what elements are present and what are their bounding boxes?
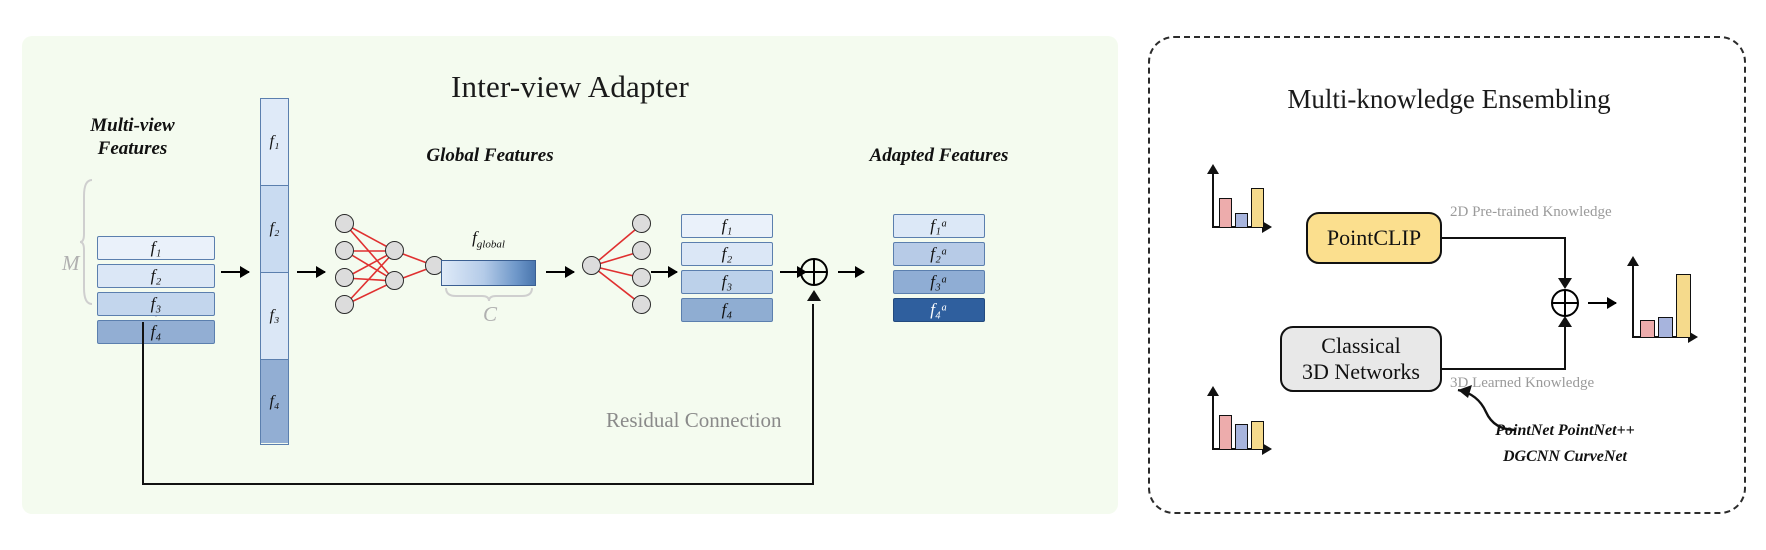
connector-3d-arrowhead-icon <box>1558 316 1572 327</box>
sum-operator-icon <box>800 258 828 286</box>
connector-2d-vertical <box>1564 237 1566 281</box>
global-feature-label: fglobal <box>441 228 536 250</box>
inter-view-adapter-panel: Inter-view Adapter Multi-view Features M… <box>22 36 1118 514</box>
dimension-label-c-global: C <box>483 302 497 327</box>
mlp-node <box>385 271 404 290</box>
arrow-right-icon <box>1588 302 1616 304</box>
ensemble-sum-operator-icon <box>1551 289 1579 317</box>
adapted-feature-box: f₁ᵃ <box>893 214 985 238</box>
global-feature-bar <box>441 260 536 286</box>
chart-bar <box>1235 213 1248 228</box>
brace-m-icon <box>80 178 94 306</box>
arrow-right-icon <box>838 271 864 273</box>
residual-arrowhead-icon <box>807 290 821 301</box>
feature-box: f₃ <box>681 270 773 294</box>
concat-segment: f₂ <box>261 186 288 273</box>
network-names-line-2: DGCNN CurveNet <box>1450 444 1680 470</box>
chart-bar <box>1219 198 1232 228</box>
concatenated-feature-column: f₁ f₂ f₃ f₄ <box>260 98 289 445</box>
feature-box: f₁ <box>681 214 773 238</box>
chart-bar <box>1235 424 1248 450</box>
concat-segment: f₃ <box>261 273 288 360</box>
adapted-features-caption: Adapted Features <box>806 144 1072 167</box>
pointclip-box[interactable]: PointCLIP <box>1306 212 1442 264</box>
mlp-node <box>582 256 601 275</box>
label-2d-knowledge: 2D Pre-trained Knowledge <box>1450 204 1612 221</box>
global-features-caption: Global Features <box>390 144 590 167</box>
adapted-feature-stack: f₁ᵃ f₂ᵃ f₃ᵃ f₄ᵃ <box>893 214 985 326</box>
mlp-node <box>335 295 354 314</box>
chart-y-axis-arrow-icon <box>1207 386 1219 396</box>
chart-y-axis-arrow-icon <box>1627 256 1639 266</box>
connector-2d-arrowhead-icon <box>1558 278 1572 289</box>
adapted-feature-box: f₃ᵃ <box>893 270 985 294</box>
right-panel-title: Multi-knowledge Ensembling <box>1150 84 1748 115</box>
mlp-node <box>632 214 651 233</box>
chart-bar <box>1658 317 1673 338</box>
dimension-label-m: M <box>62 251 80 276</box>
page-title: Inter-view Adapter <box>22 69 1118 105</box>
concat-segment: f₄ <box>261 360 288 443</box>
chart-classical-input <box>1206 392 1274 454</box>
connector-3d-horizontal <box>1442 368 1566 370</box>
mlp-node <box>632 295 651 314</box>
network-names-line-1: PointNet PointNet++ <box>1450 418 1680 444</box>
multiview-features-caption: Multi-view Features <box>50 114 215 160</box>
chart-bar <box>1251 421 1264 450</box>
chart-bar <box>1219 415 1232 450</box>
multiview-feature-stack: f₁ f₂ f₃ f₄ <box>97 236 215 348</box>
feature-box: f₄ <box>681 298 773 322</box>
connector-2d-horizontal <box>1442 237 1566 239</box>
mlp-node <box>385 241 404 260</box>
classical-3d-networks-box[interactable]: Classical 3D Networks <box>1280 326 1442 392</box>
mlp-node <box>335 268 354 287</box>
concat-segment: f₁ <box>261 99 288 186</box>
arrow-right-icon <box>221 271 249 273</box>
chart-y-axis <box>1632 266 1634 338</box>
chart-bar <box>1676 274 1691 338</box>
arrow-right-icon <box>297 271 325 273</box>
chart-ensembled-logits <box>1626 260 1702 344</box>
residual-connection-vertical-right <box>812 304 814 485</box>
classical-line-2: 3D Networks <box>1302 359 1420 385</box>
mlp-node <box>335 214 354 233</box>
network-names-list: PointNet PointNet++ DGCNN CurveNet <box>1450 418 1680 469</box>
residual-connection-horizontal <box>142 483 814 485</box>
classical-3d-networks-label: Classical 3D Networks <box>1302 333 1420 385</box>
residual-connection-vertical-left <box>142 322 144 485</box>
chart-y-axis-arrow-icon <box>1207 164 1219 174</box>
feature-box: f₃ <box>97 292 215 316</box>
feature-box: f₂ <box>97 264 215 288</box>
adapted-feature-box: f₄ᵃ <box>893 298 985 322</box>
residual-connection-label: Residual Connection <box>606 408 782 433</box>
chart-y-axis <box>1212 174 1214 228</box>
classical-line-1: Classical <box>1302 333 1420 359</box>
feature-box: f₁ <box>97 236 215 260</box>
mlp-node <box>632 268 651 287</box>
decoded-feature-stack: f₁ f₂ f₃ f₄ <box>681 214 773 326</box>
chart-y-axis <box>1212 396 1214 450</box>
arrow-right-icon <box>651 271 677 273</box>
connector-3d-vertical <box>1564 326 1566 370</box>
mlp-node <box>632 241 651 260</box>
mlp-node <box>335 241 354 260</box>
chart-pointclip-input <box>1206 170 1274 232</box>
brace-c-global-icon <box>444 288 536 302</box>
adapted-feature-box: f₂ᵃ <box>893 242 985 266</box>
arrow-right-icon <box>546 271 574 273</box>
feature-box: f₄ <box>97 320 215 344</box>
chart-bar <box>1251 188 1264 228</box>
multi-knowledge-ensembling-panel: Multi-knowledge Ensembling PointCLIP Cla… <box>1148 36 1746 514</box>
feature-box: f₂ <box>681 242 773 266</box>
chart-bar <box>1640 320 1655 338</box>
